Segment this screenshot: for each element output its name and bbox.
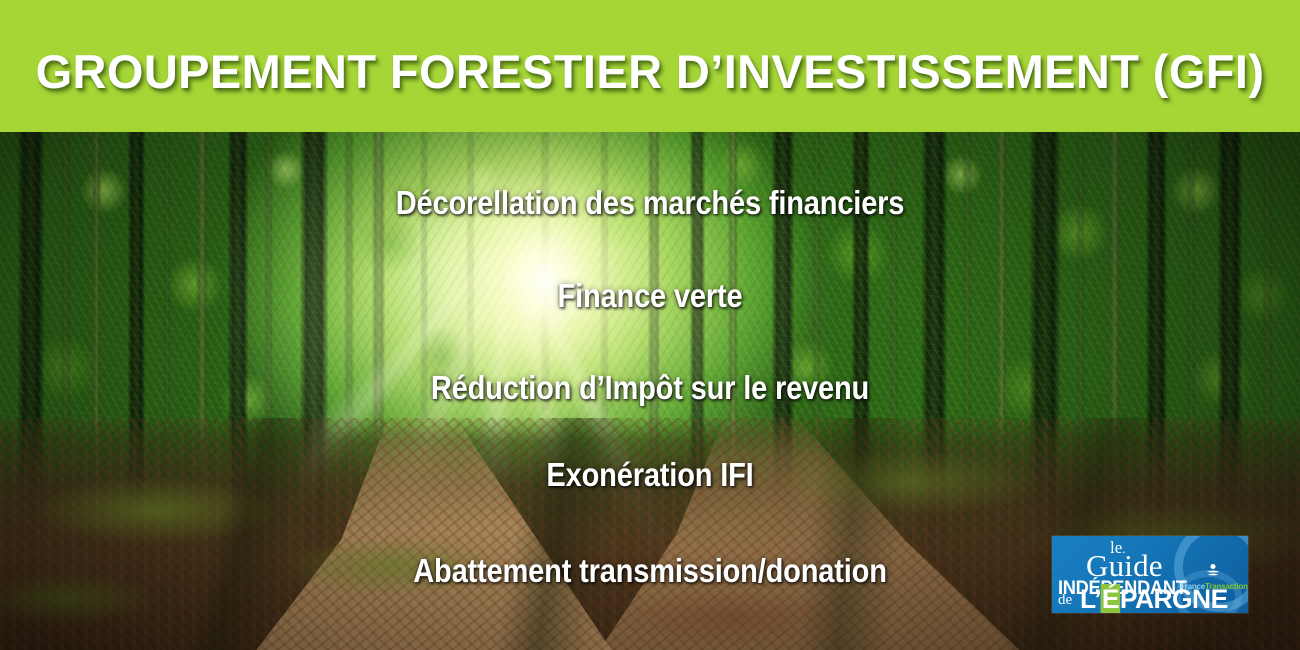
logo-de-text: de <box>1058 592 1072 609</box>
logo-epargne-text: L’ÉPARGNE <box>1080 586 1228 613</box>
header-band: GROUPEMENT FORESTIER D’INVESTISSEMENT (G… <box>0 0 1300 132</box>
benefit-line-decorrelation: Décorellation des marchés financiers <box>78 184 1222 222</box>
benefit-label: Exonération IFI <box>546 456 753 494</box>
promotional-banner: Décorellation des marchés financiers Fin… <box>0 0 1300 650</box>
benefit-line-reduction-impot: Réduction d’Impôt sur le revenu <box>78 369 1222 407</box>
benefit-label: Décorellation des marchés financiers <box>396 184 905 222</box>
benefit-line-abattement: Abattement transmission/donation <box>78 552 1222 590</box>
epargne-prefix: L’ <box>1080 584 1101 613</box>
epargne-suffix: PARGNE <box>1120 584 1228 613</box>
person-icon <box>1204 562 1222 580</box>
benefit-line-finance-verte: Finance verte <box>78 277 1222 315</box>
benefit-line-exoneration-ifi: Exonération IFI <box>78 456 1222 494</box>
epargne-accent-letter: É <box>1101 584 1120 613</box>
benefit-label: Abattement transmission/donation <box>413 552 887 590</box>
logo-guide-text: Guide <box>1086 550 1163 581</box>
benefit-label: Réduction d’Impôt sur le revenu <box>431 369 869 407</box>
benefit-label: Finance verte <box>558 277 743 315</box>
ground-shadows <box>0 418 1300 650</box>
page-title: GROUPEMENT FORESTIER D’INVESTISSEMENT (G… <box>0 0 1300 132</box>
guide-independant-epargne-logo[interactable]: le. Guide INDÉPENDANT FranceTransactions… <box>1052 536 1248 613</box>
